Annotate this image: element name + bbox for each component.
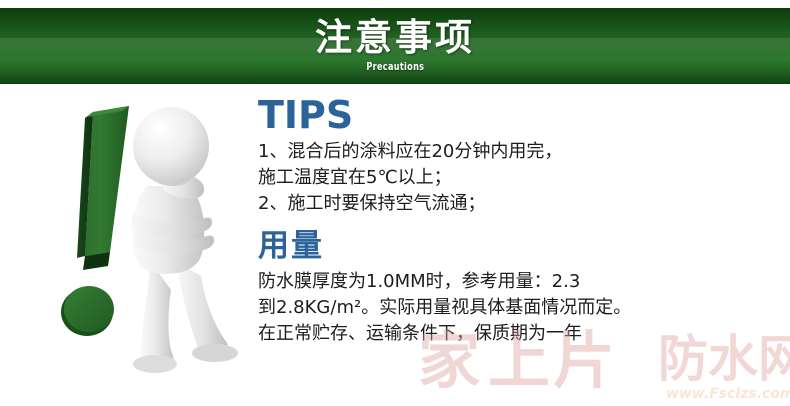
usage-line: 在正常贮存、运输条件下，保质期为一年 [258, 321, 788, 347]
list-item: 2、施工时要保持空气流通； [258, 191, 788, 217]
list-item: 1、混合后的涂料应在20分钟内用完， [258, 139, 788, 165]
usage-text-block: 防水膜厚度为1.0MM时，参考用量：2.3 到2.8KG/m²。实际用量视具体基… [258, 269, 788, 347]
exclamation-and-figure-graphic [55, 94, 255, 389]
usage-line: 防水膜厚度为1.0MM时，参考用量：2.3 [258, 269, 788, 295]
tips-heading: TIPS [258, 96, 788, 134]
header-banner: 注意事项 Precautions [0, 8, 790, 84]
content-column: TIPS 1、混合后的涂料应在20分钟内用完， 施工温度宜在5℃以上； 2、施工… [258, 96, 788, 396]
precautions-page: 注意事项 Precautions [0, 0, 790, 406]
usage-line: 到2.8KG/m²。实际用量视具体基面情况而定。 [258, 295, 788, 321]
tips-list: 1、混合后的涂料应在20分钟内用完， 施工温度宜在5℃以上； 2、施工时要保持空… [258, 139, 788, 217]
section-spacer [258, 217, 788, 231]
list-item: 施工温度宜在5℃以上； [258, 165, 788, 191]
thinking-figure [131, 107, 238, 373]
usage-heading: 用量 [258, 231, 788, 262]
banner-subtitle: Precautions [366, 60, 424, 73]
exclamation-bar-icon [77, 106, 129, 270]
illustration [55, 94, 255, 389]
banner-inner: 注意事项 Precautions [0, 8, 790, 84]
exclamation-dot-icon [61, 286, 114, 336]
banner-title: 注意事项 [315, 19, 475, 58]
